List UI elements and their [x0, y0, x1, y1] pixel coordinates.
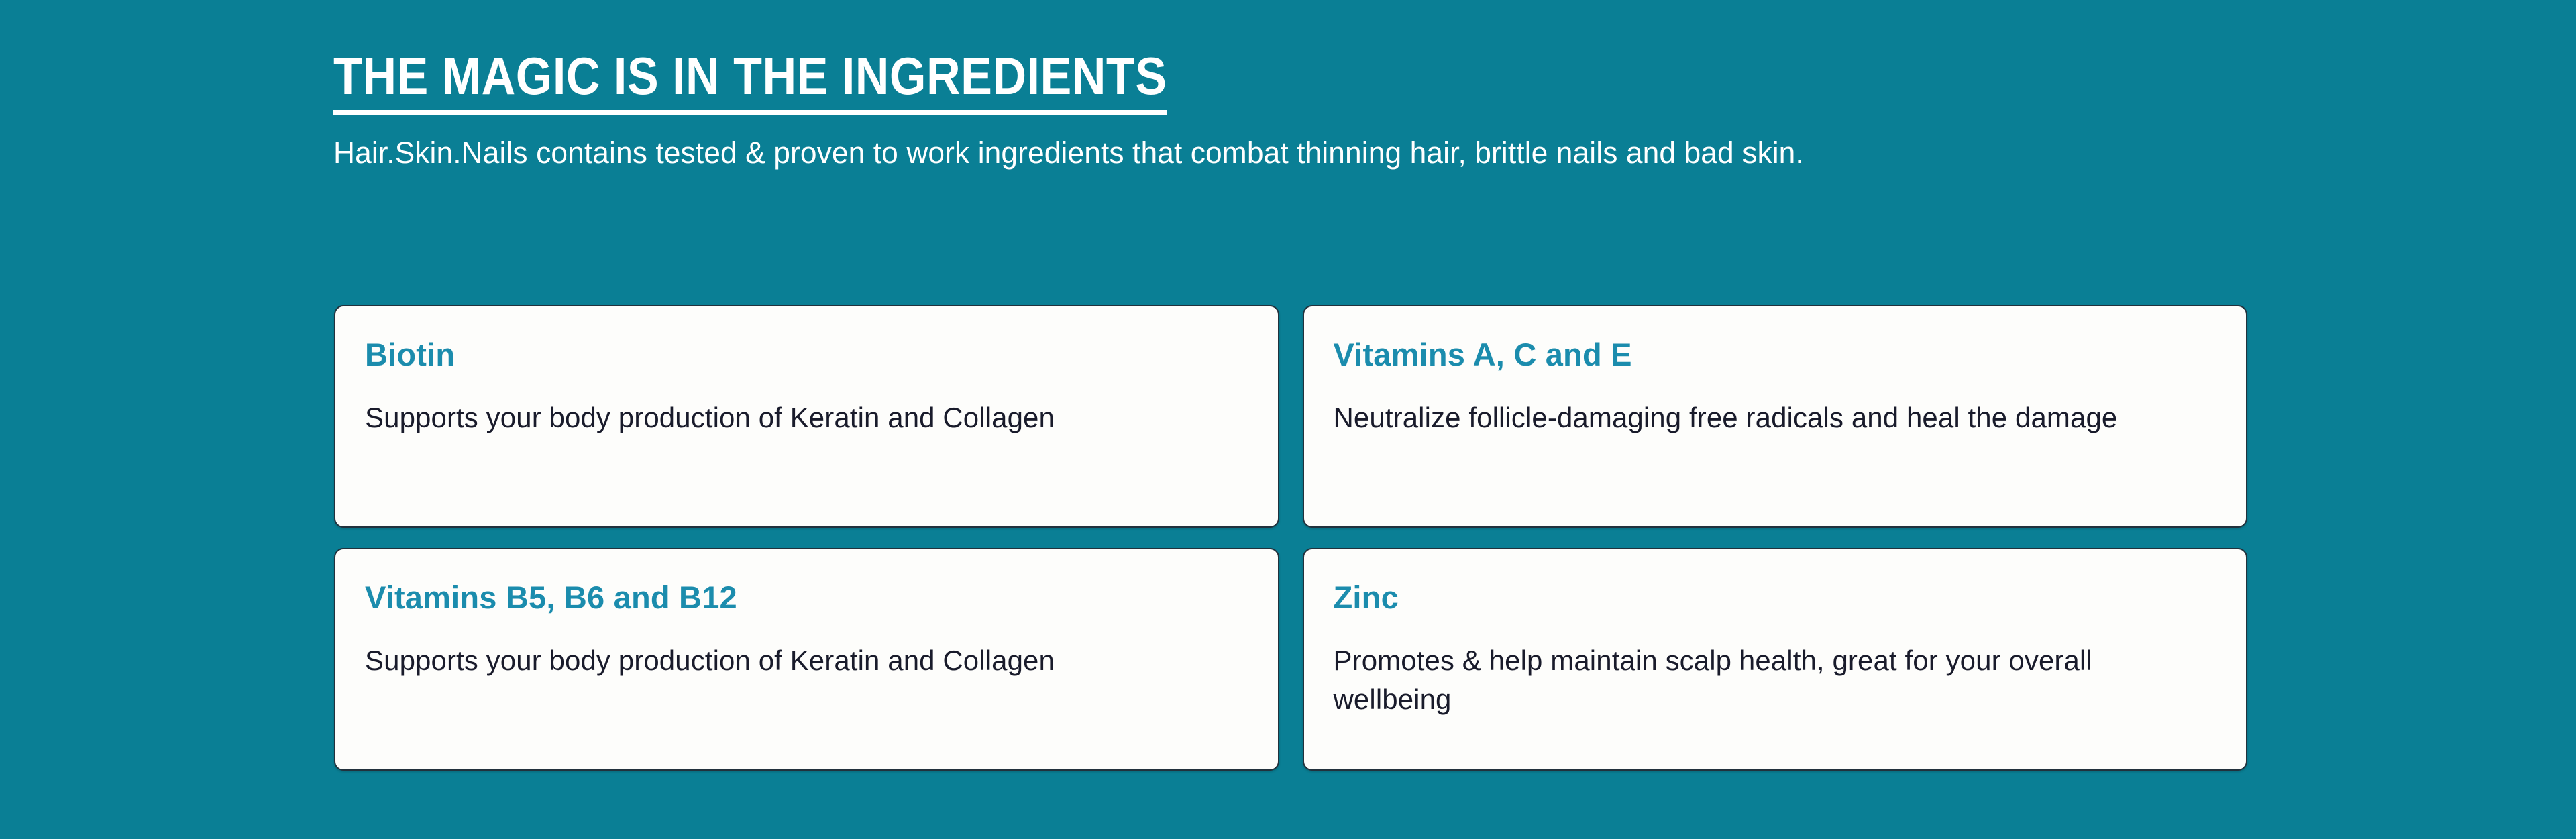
ingredients-section: THE MAGIC IS IN THE INGREDIENTS Hair.Ski… [0, 0, 2576, 839]
ingredient-card-title: Zinc [1334, 580, 2217, 616]
ingredient-card-title: Vitamins A, C and E [1334, 337, 2217, 373]
ingredient-card-vitamins-b: Vitamins B5, B6 and B12 Supports your bo… [334, 548, 1279, 771]
ingredient-card-zinc: Zinc Promotes & help maintain scalp heal… [1303, 548, 2248, 771]
ingredient-card-title: Vitamins B5, B6 and B12 [365, 580, 1248, 616]
ingredient-card-grid: Biotin Supports your body production of … [334, 305, 2247, 771]
ingredient-card-title: Biotin [365, 337, 1248, 373]
ingredient-card-description: Promotes & help maintain scalp health, g… [1334, 641, 2192, 719]
section-subheading: Hair.Skin.Nails contains tested & proven… [333, 133, 2131, 173]
ingredient-card-vitamins-ace: Vitamins A, C and E Neutralize follicle-… [1303, 305, 2248, 528]
ingredient-card-description: Supports your body production of Keratin… [365, 641, 1224, 680]
page-title: THE MAGIC IS IN THE INGREDIENTS [333, 50, 1167, 115]
ingredient-card-description: Supports your body production of Keratin… [365, 398, 1224, 437]
ingredient-card-description: Neutralize follicle-damaging free radica… [1334, 398, 2192, 437]
section-header: THE MAGIC IS IN THE INGREDIENTS Hair.Ski… [333, 50, 2158, 172]
ingredient-card-biotin: Biotin Supports your body production of … [334, 305, 1279, 528]
